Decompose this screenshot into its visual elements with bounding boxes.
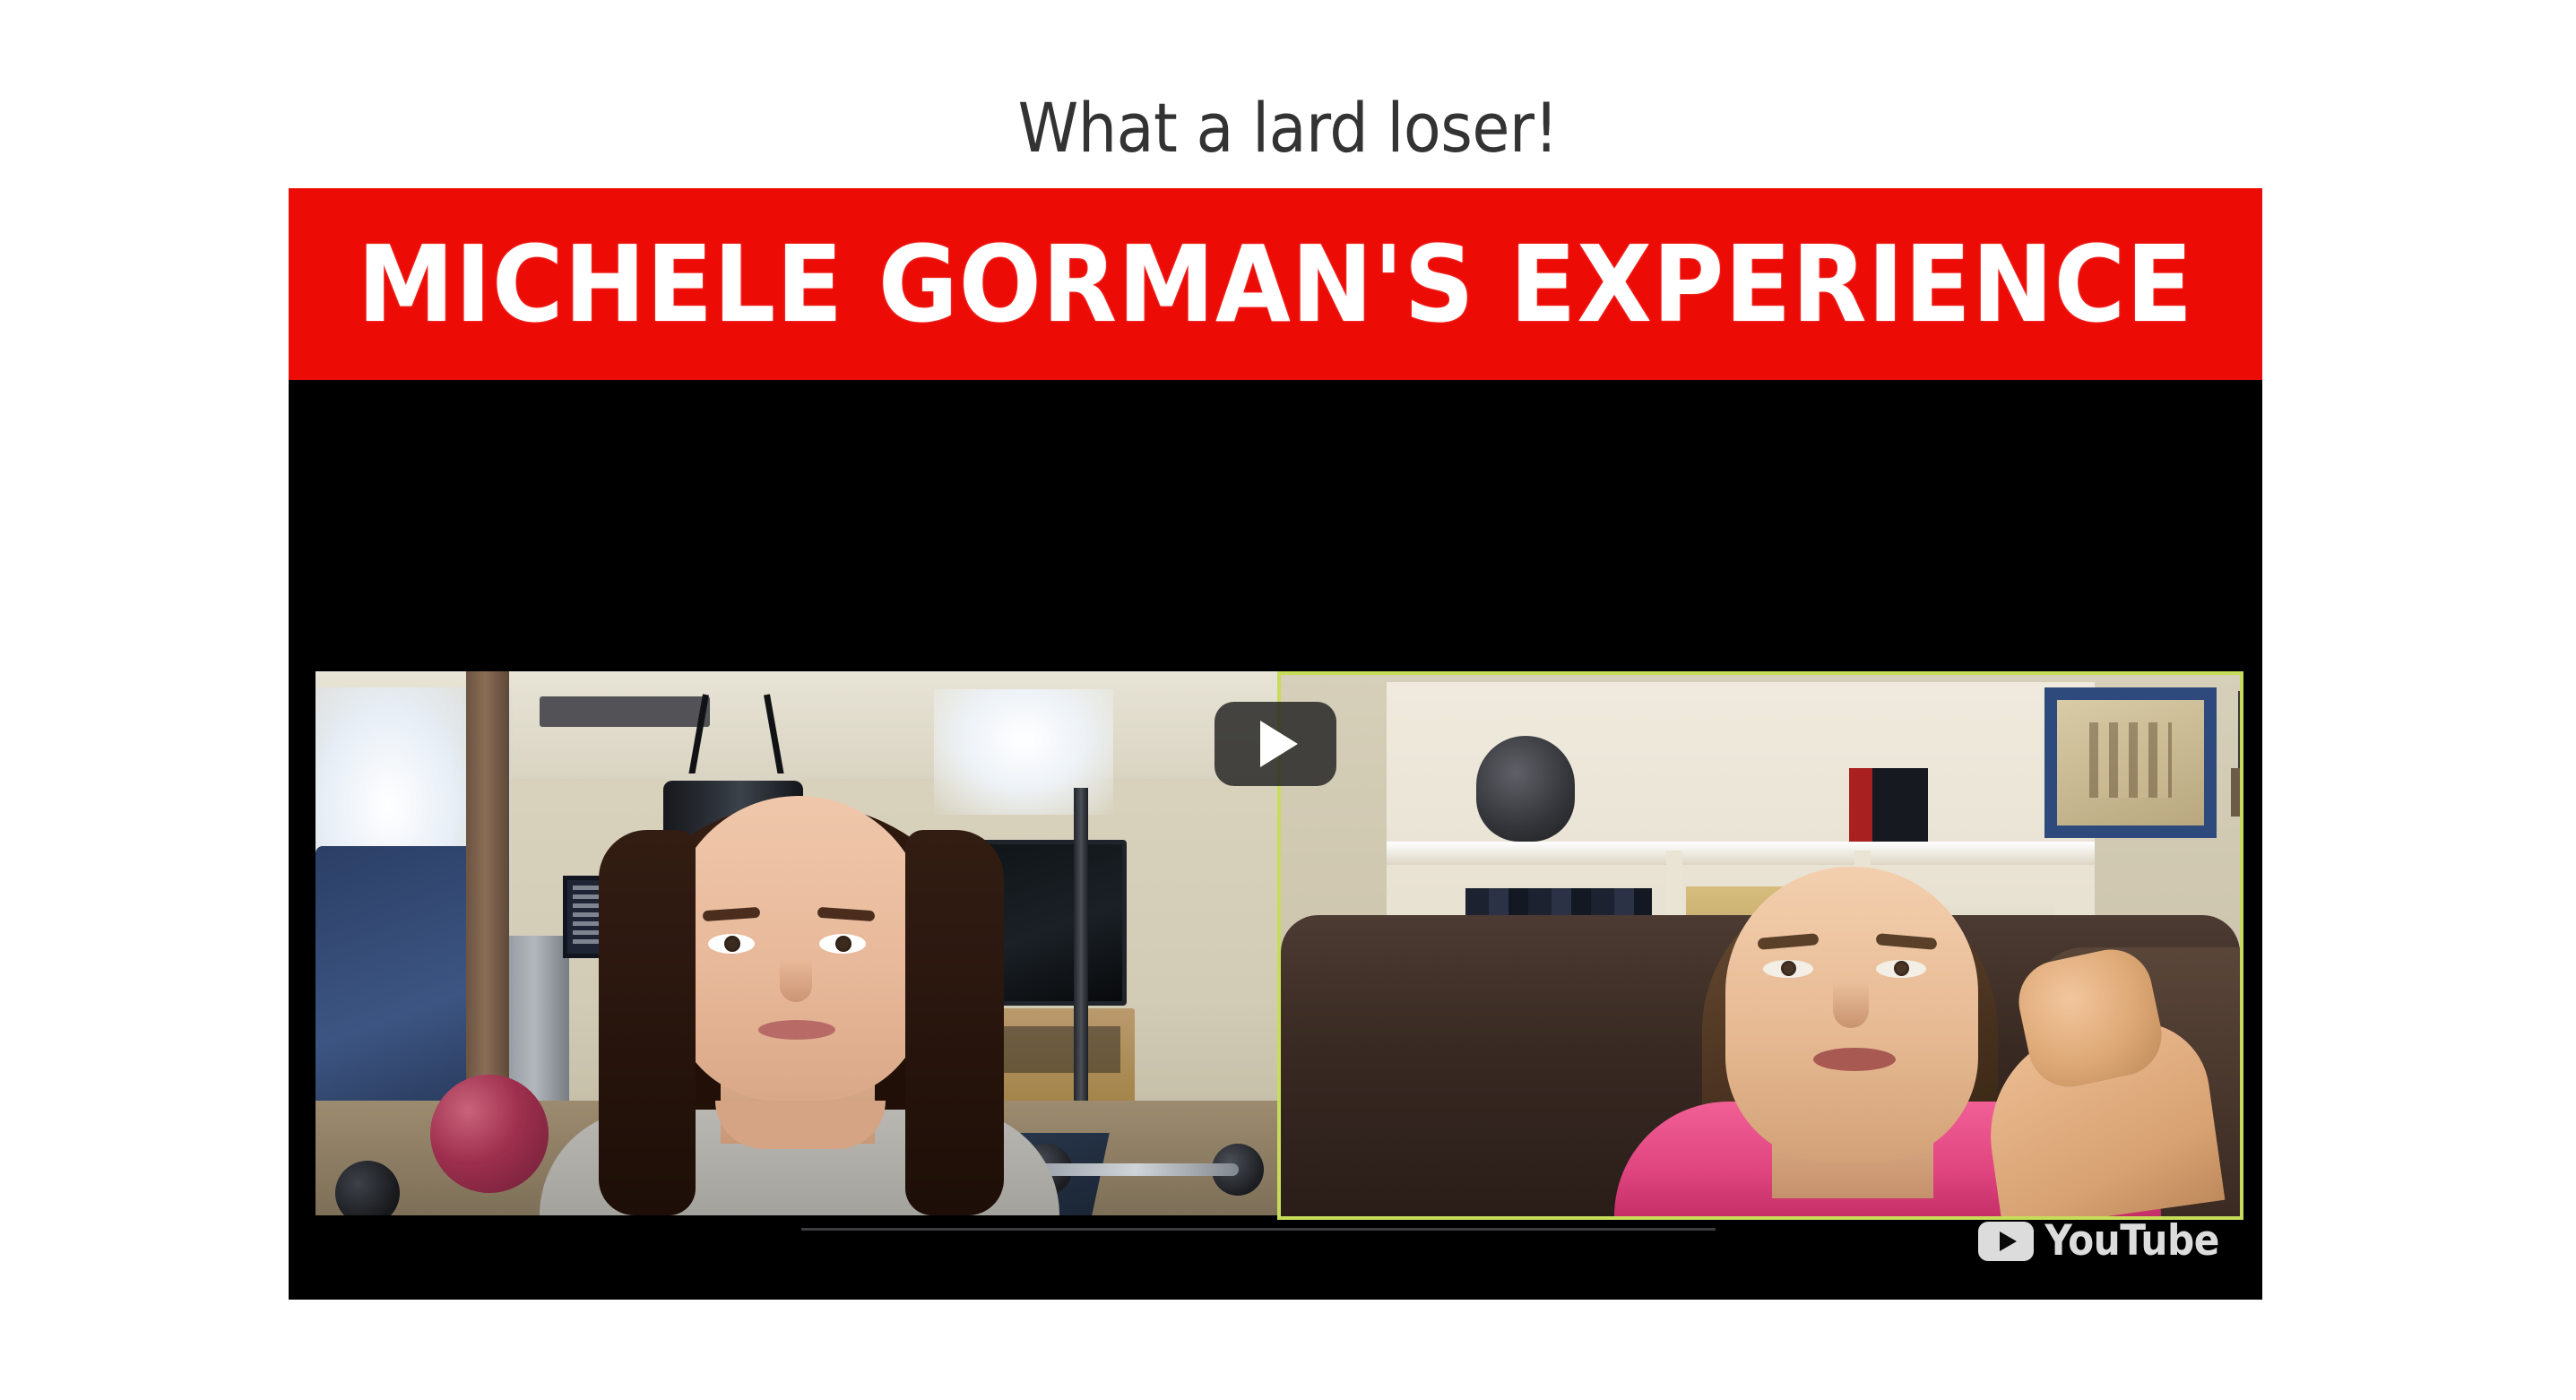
woman-eye-left xyxy=(708,934,755,954)
youtube-play-icon xyxy=(1978,1222,2034,1261)
play-button[interactable] xyxy=(1215,702,1336,786)
left-webcam-pane: EVERLA MMA xyxy=(316,671,1282,1215)
page-title: What a lard loser! xyxy=(0,92,2576,164)
man-mouth xyxy=(1813,1048,1896,1071)
woman-hair-front-left xyxy=(599,830,696,1215)
woman-hair-front-right xyxy=(905,830,1004,1215)
barbell xyxy=(1033,1163,1239,1176)
woman-nose xyxy=(780,959,812,1002)
red-book xyxy=(1849,768,1928,842)
right-webcam-pane xyxy=(1277,671,2243,1220)
woman-collar xyxy=(715,1101,886,1149)
ceiling-vent xyxy=(540,696,710,727)
page-root: What a lard loser! MICHELE GORMAN'S EXPE… xyxy=(0,0,2576,1400)
woman-mouth xyxy=(758,1020,835,1040)
video-banner-text: MICHELE GORMAN'S EXPERIENCE xyxy=(358,231,2193,337)
books-right xyxy=(2231,768,2240,817)
video-stage: EVERLA MMA xyxy=(289,380,2262,1300)
woman-eye-right xyxy=(819,934,866,954)
man-eye-left xyxy=(1763,960,1813,978)
framed-artwork xyxy=(2044,687,2217,838)
youtube-wordmark: YouTube xyxy=(2044,1220,2219,1262)
youtube-watermark[interactable]: YouTube xyxy=(1978,1220,2219,1262)
video-scanline-artifact xyxy=(801,1228,1716,1231)
man-nose xyxy=(1833,981,1869,1028)
youtube-play-triangle-icon xyxy=(2000,1231,2017,1251)
video-title-banner: MICHELE GORMAN'S EXPERIENCE xyxy=(289,188,2262,380)
video-player[interactable]: MICHELE GORMAN'S EXPERIENCE xyxy=(289,188,2262,1300)
play-triangle-icon xyxy=(1260,721,1298,767)
man-eye-right xyxy=(1876,960,1926,978)
shelf-board-upper xyxy=(1387,842,2095,865)
exercise-ball xyxy=(430,1075,549,1193)
right-pane-scene xyxy=(1281,675,2240,1216)
decorative-vase xyxy=(1476,736,1575,842)
left-pane-scene: EVERLA MMA xyxy=(316,671,1282,1215)
woman-face xyxy=(670,796,927,1101)
